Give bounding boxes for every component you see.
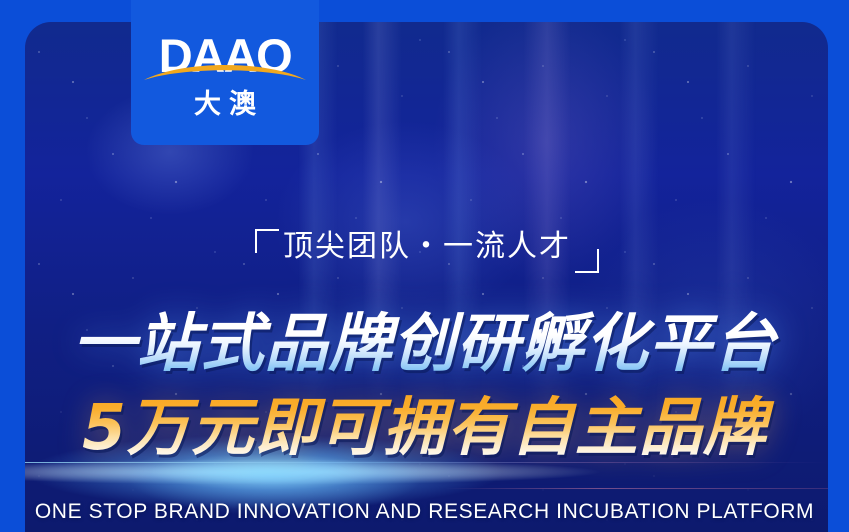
brand-logo-plate[interactable]: DAAO 大澳	[131, 0, 319, 145]
corner-bracket-bottom-right-icon	[575, 249, 599, 273]
horizon-light-line-lower	[445, 488, 828, 489]
tagline-block: 顶尖团队・一流人才	[231, 207, 623, 287]
tagline-text: 顶尖团队・一流人才	[231, 227, 623, 267]
promo-banner: DAAO 大澳 顶尖团队・一流人才 一站式品牌创研孵化平台 5万元即可拥有自主品…	[0, 0, 849, 532]
logo-mark: DAAO	[131, 30, 319, 82]
logo-chinese-text: 大澳	[131, 88, 319, 122]
headline-secondary: 5万元即可拥有自主品牌	[0, 390, 849, 466]
logo-swoosh-icon	[143, 56, 307, 82]
headline-primary: 一站式品牌创研孵化平台	[0, 306, 849, 382]
subtitle-english: ONE STOP BRAND INNOVATION AND RESEARCH I…	[0, 498, 849, 526]
